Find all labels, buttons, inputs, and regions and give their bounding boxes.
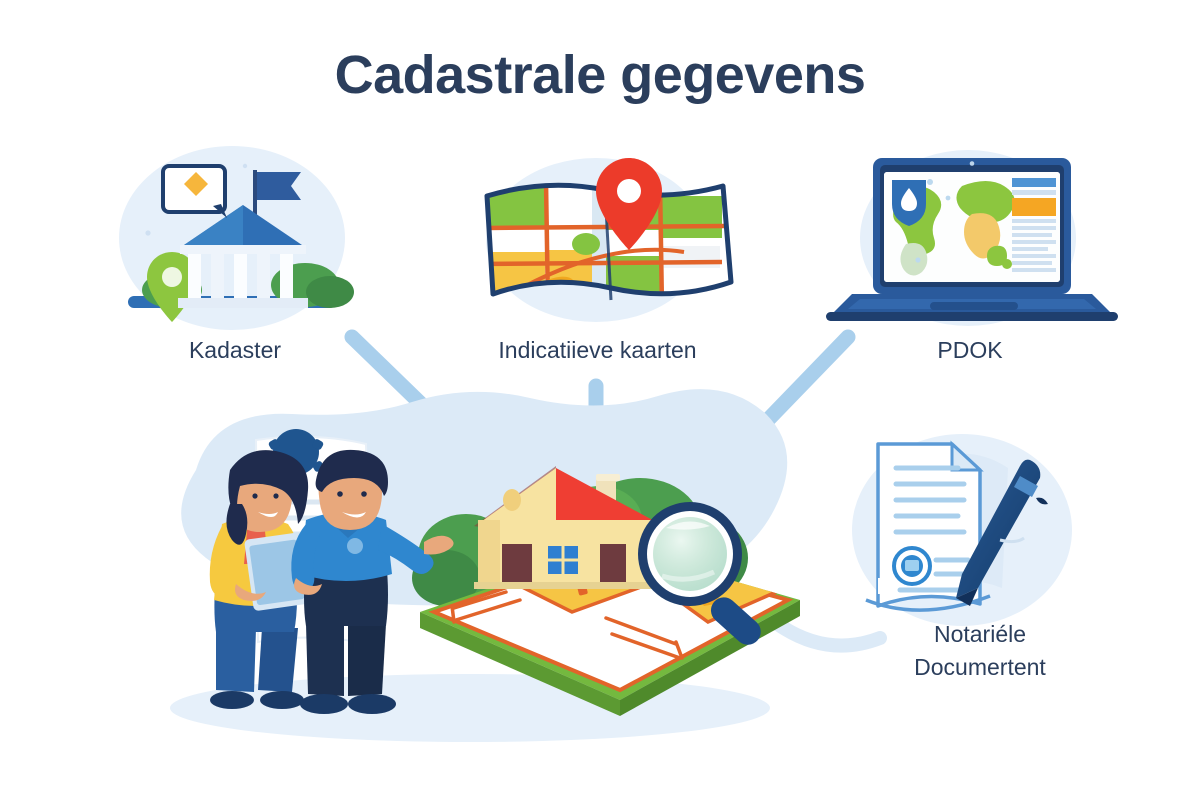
node-label-indicatieve-kaarten: Indicatiieve kaarten xyxy=(455,334,740,367)
node-label-notariele-documenten: Notariéle Documertent xyxy=(855,618,1105,683)
world-map-screen xyxy=(884,172,1060,282)
node-label-notariele-line2: Documertent xyxy=(855,651,1105,684)
notarial-document-icon[interactable] xyxy=(852,434,1072,626)
property-survey-scene[interactable] xyxy=(170,389,800,742)
node-label-pdok: PDOK xyxy=(855,334,1085,367)
government-building-icon[interactable] xyxy=(119,146,354,330)
folded-map-icon[interactable] xyxy=(470,158,731,322)
laptop-icon[interactable] xyxy=(826,150,1118,326)
node-label-notariele-line1: Notariéle xyxy=(855,618,1105,651)
round-seal-icon xyxy=(894,548,930,584)
map-thumbnail-card xyxy=(163,166,227,218)
infographic-canvas: Cadastrale gegevens xyxy=(0,0,1200,800)
node-label-kadaster: Kadaster xyxy=(120,334,350,367)
